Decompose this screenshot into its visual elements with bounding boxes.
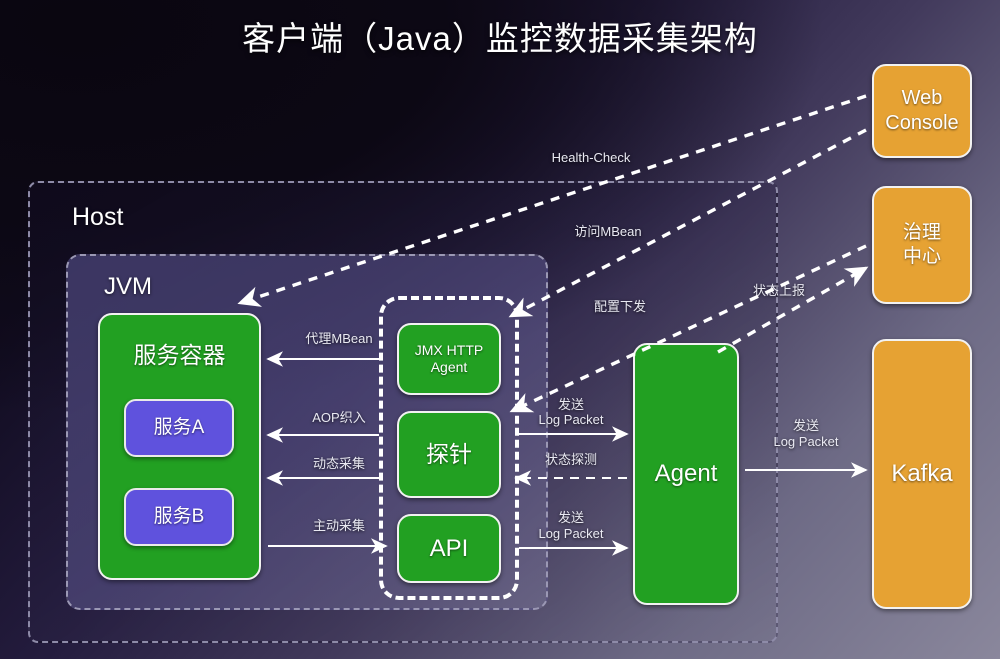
agent-box[interactable]: Agent <box>633 343 739 605</box>
kafka-box[interactable]: Kafka <box>872 339 972 609</box>
governance-center-label-line1: 治理 <box>903 221 941 245</box>
probe-box[interactable]: 探针 <box>397 411 501 498</box>
edge-label-send-log-packet-2-line2: Log Packet <box>519 526 623 542</box>
edge-label-status-probe: 状态探测 <box>519 452 623 468</box>
jmx-http-agent-label-line2: Agent <box>431 359 468 377</box>
edge-label-aop-weave: AOP织入 <box>295 410 383 426</box>
edge-label-dynamic-collect: 动态采集 <box>295 456 383 472</box>
jvm-label: JVM <box>104 273 152 301</box>
jmx-http-agent-label-line1: JMX HTTP <box>415 342 483 360</box>
web-console-box[interactable]: Web Console <box>872 64 972 158</box>
service-b-box[interactable]: 服务B <box>124 488 234 546</box>
host-label: Host <box>72 203 123 232</box>
page-title: 客户端（Java）监控数据采集架构 <box>0 12 1000 60</box>
edge-label-proxy-mbean: 代理MBean <box>291 331 387 347</box>
edge-label-send-log-packet-3-line1: 发送 <box>756 418 856 434</box>
edge-label-status-report: 状态上报 <box>744 283 814 299</box>
edge-label-config-push: 配置下发 <box>585 299 655 315</box>
diagram-canvas: 客户端（Java）监控数据采集架构 Host JVM 服务容器 服务A 服务B … <box>0 0 1000 659</box>
governance-center-box[interactable]: 治理 中心 <box>872 186 972 304</box>
api-box[interactable]: API <box>397 514 501 583</box>
web-console-label-line1: Web <box>902 86 943 111</box>
governance-center-label-line2: 中心 <box>903 245 941 269</box>
service-container-label: 服务容器 <box>134 341 226 370</box>
web-console-label-line2: Console <box>885 111 958 136</box>
kafka-label: Kafka <box>891 459 952 489</box>
api-label: API <box>430 534 469 564</box>
edge-label-active-collect: 主动采集 <box>295 518 383 534</box>
edge-label-send-log-packet-2-line1: 发送 <box>519 510 623 526</box>
edge-label-access-mbean: 访问MBean <box>560 224 656 240</box>
edge-label-health-check: Health-Check <box>541 150 641 166</box>
edge-label-send-log-packet-3-line2: Log Packet <box>756 434 856 450</box>
edge-label-send-log-packet-1-line1: 发送 <box>519 397 623 413</box>
service-a-label: 服务A <box>154 416 205 440</box>
jmx-http-agent-box[interactable]: JMX HTTP Agent <box>397 323 501 395</box>
service-b-label: 服务B <box>154 505 205 529</box>
service-a-box[interactable]: 服务A <box>124 399 234 457</box>
agent-label: Agent <box>655 459 718 489</box>
probe-label: 探针 <box>426 440 472 469</box>
edge-label-send-log-packet-1-line2: Log Packet <box>519 412 623 428</box>
